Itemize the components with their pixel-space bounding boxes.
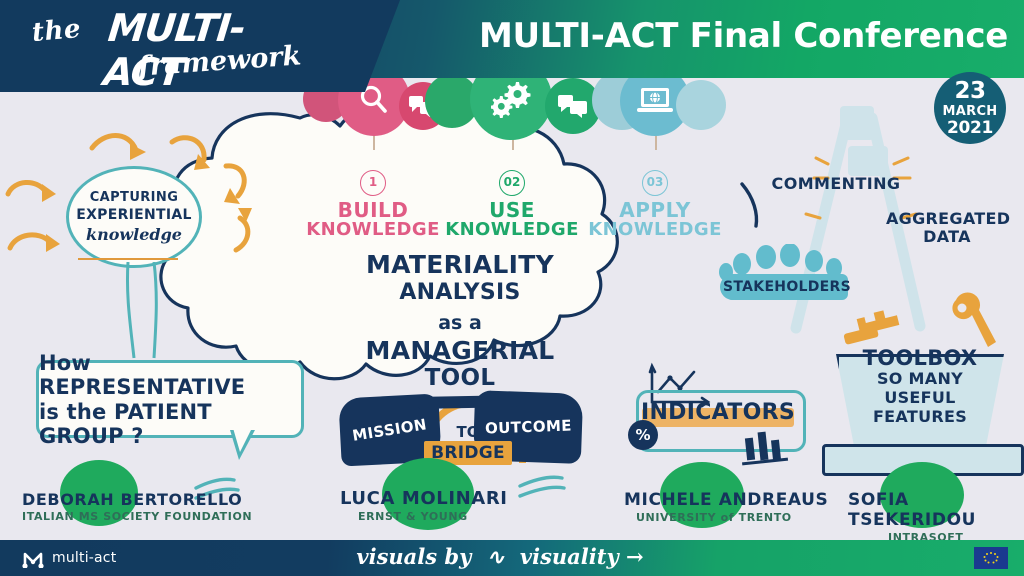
step-apply-knowledge[interactable]: 03 APPLY KNOWLEDGE [585,170,725,240]
step-line2: KNOWLEDGE [303,221,443,240]
percent-badge: % [628,420,658,450]
question-speech-box: How REPRESENTATIVE is the PATIENT GROUP … [36,360,304,438]
chat-bubbles-icon [558,94,588,118]
indicators-label: INDICATORS [636,400,800,425]
step-line2: KNOWLEDGE [585,221,725,240]
multi-act-mark-icon [22,548,44,568]
toolbox-line-1: SO MANY [877,369,963,388]
date-day: 23 [954,80,985,103]
speaker-1: DEBORAH BERTORELLO ITALIAN MS SOCIETY FO… [22,490,252,523]
drawing-canvas: 1 BUILD KNOWLEDGE 02 USE KNOWLEDGE 03 AP… [0,78,1024,532]
speaker-name: SOFIA TSEKERIDOU [848,490,1024,530]
mission-label: MISSION [351,415,428,445]
step-number: 03 [642,170,668,196]
step-line1: USE [442,200,582,221]
speaker-org: ITALIAN MS SOCIETY FOUNDATION [22,510,252,523]
gears-icon [491,80,531,118]
capturing-experiential-knowledge-bubble: CAPTURING EXPERIENTIAL knowledge [66,166,202,268]
speech-box-tail-inner [233,428,252,452]
european-union-flag [974,547,1008,569]
footer-bar: multi-act visuals by ∿ visuality → [0,540,1024,576]
toolbox-title: TOOLBOX [836,346,1004,370]
date-badge: 23 MARCH 2021 [934,72,1006,144]
toolbox-line-2: USEFUL [884,388,955,407]
laptop-globe-icon [636,86,674,116]
speaker-3: MICHELE ANDREAUS UNIVERSITY of TRENTO [624,490,828,524]
visuality-text: visuality [520,544,619,569]
date-month: MARCH [943,105,998,118]
visuality-squiggle-icon: ∿ [479,544,513,569]
capturing-line-1: CAPTURING [90,190,179,205]
question-line-1: How REPRESENTATIVE [39,351,301,399]
materiality-analysis-text: MATERIALITY ANALYSIS as a MANAGERIAL TOO… [360,250,560,391]
speaker-name: MICHELE ANDREAUS [624,490,828,510]
capturing-line-2: EXPERIENTIAL [76,207,192,223]
aggregated-line-1: AGGREGATED [886,209,1010,228]
aggregated-line-2: DATA [923,227,971,246]
percent-symbol: % [635,426,650,444]
toolbox-line-3: FEATURES [873,407,967,426]
capturing-underline [78,258,178,260]
circle-teal-small-right [676,80,726,130]
multi-act-footer-logo[interactable]: multi-act [22,548,116,568]
question-line-2: is the PATIENT GROUP ? [39,400,301,448]
center-line-2: ANALYSIS [360,280,560,305]
bar-chart-icon [742,426,802,466]
step-use-knowledge[interactable]: 02 USE KNOWLEDGE [442,170,582,240]
step-number: 02 [499,170,525,196]
aggregated-data-note: AGGREGATED DATA [886,210,1008,247]
eu-stars-icon [979,550,1003,566]
step-number: 1 [360,170,386,196]
step-line2: KNOWLEDGE [442,221,582,240]
step-line1: BUILD [303,200,443,221]
footer-logo-text: multi-act [52,550,116,566]
page-title: MULTI-ACT Final Conference [479,16,1008,56]
toolbox-features-text: SO MANY USEFUL FEATURES [846,370,994,427]
brand-the-text: the [31,14,82,48]
center-line-5: TOOL [360,365,560,391]
step-build-knowledge[interactable]: 1 BUILD KNOWLEDGE [303,170,443,240]
speaker-2: LUCA MOLINARI ERNST & YOUNG [340,488,508,523]
visuals-by-credit: visuals by ∿ visuality → [290,544,710,569]
step-line1: APPLY [585,200,725,221]
capturing-line-3: knowledge [86,225,182,244]
outcome-label: OUTCOME [484,416,571,437]
speaker-name: LUCA MOLINARI [340,488,508,509]
speaker-org: ERNST & YOUNG [358,510,508,523]
visuals-by-text: visuals by [356,544,471,569]
speaker-4: SOFIA TSEKERIDOU INTRASOFT [848,490,1024,544]
sketchnote-slide: the MULTI-ACT framework MULTI-ACT Final … [0,0,1024,576]
commenting-note: COMMENTING [766,174,906,193]
center-line-1: MATERIALITY [360,250,560,279]
bridge-deck [418,395,518,409]
center-line-3: as a [360,312,560,334]
speaker-name: DEBORAH BERTORELLO [22,490,252,509]
arrow-right-icon: → [626,544,644,569]
date-year: 2021 [947,120,993,137]
speaker-org: UNIVERSITY of TRENTO [636,511,828,524]
center-line-4: MANAGERIAL [360,336,560,365]
to-label: TO [440,423,496,441]
